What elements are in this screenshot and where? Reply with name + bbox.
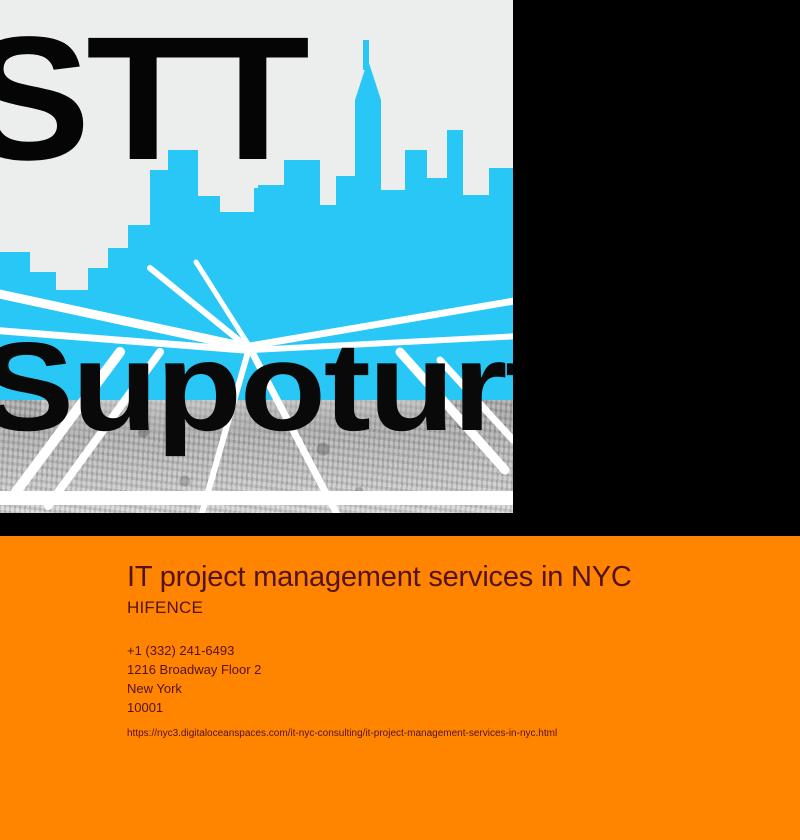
hero-overlay-text-bottom: Supoturt [0, 330, 513, 443]
separator-band [0, 513, 800, 536]
contact-street: 1216 Broadway Floor 2 [127, 660, 776, 679]
contact-postal-code: 10001 [127, 698, 776, 717]
page-root: STT Supoturt IT project management servi… [0, 0, 800, 840]
info-panel: IT project management services in NYC HI… [0, 536, 800, 840]
hero-overlay-text-top: STT [0, 24, 513, 175]
source-url-link[interactable]: https://nyc3.digitaloceanspaces.com/it-n… [127, 727, 776, 741]
hero-image: STT Supoturt [0, 0, 513, 513]
contact-phone: +1 (332) 241-6493 [127, 641, 776, 660]
contact-details: +1 (332) 241-6493 1216 Broadway Floor 2 … [127, 641, 776, 717]
contact-city: New York [127, 679, 776, 698]
page-title: IT project management services in NYC [127, 560, 776, 594]
brand-name: HIFENCE [127, 598, 776, 618]
hero-right-filler [513, 0, 800, 513]
info-content: IT project management services in NYC HI… [127, 560, 776, 741]
